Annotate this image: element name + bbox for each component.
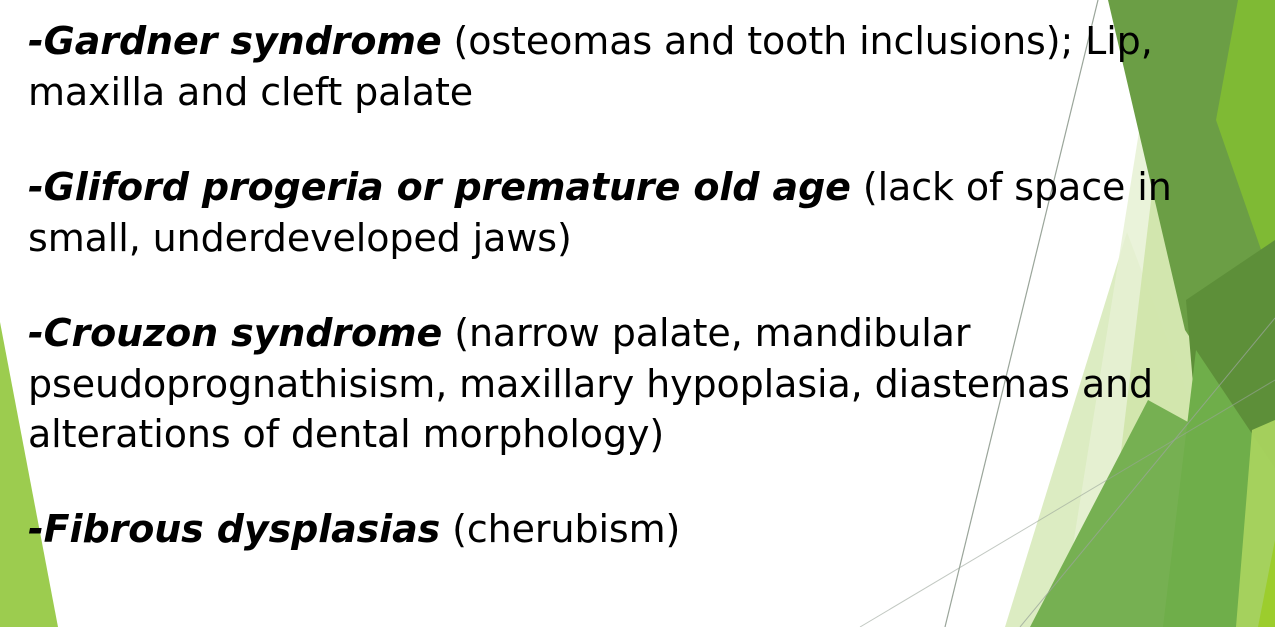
bullet-lead-crouzon: -Crouzon syndrome [28, 311, 442, 355]
bullet-fibrous-dysplasias: -Fibrous dysplasias (cherubism) [28, 504, 1253, 555]
bullet-crouzon-syndrome: -Crouzon syndrome (narrow palate, mandib… [28, 308, 1253, 461]
bullet-lead-fibrous: -Fibrous dysplasias [28, 507, 440, 551]
bullet-rest-fibrous: (cherubism) [440, 507, 680, 551]
bullet-lead-gliford: -Gliford progeria or premature old age [28, 165, 851, 209]
presentation-slide: -Gardner syndrome (osteomas and tooth in… [0, 0, 1275, 627]
bullet-lead-gardner: -Gardner syndrome [28, 19, 442, 63]
bullet-gardner-syndrome: -Gardner syndrome (osteomas and tooth in… [28, 16, 1253, 118]
slide-body-text: -Gardner syndrome (osteomas and tooth in… [28, 10, 1253, 555]
bullet-gliford-progeria: -Gliford progeria or premature old age (… [28, 162, 1253, 264]
bottom-right-lime-corner [1258, 540, 1275, 627]
